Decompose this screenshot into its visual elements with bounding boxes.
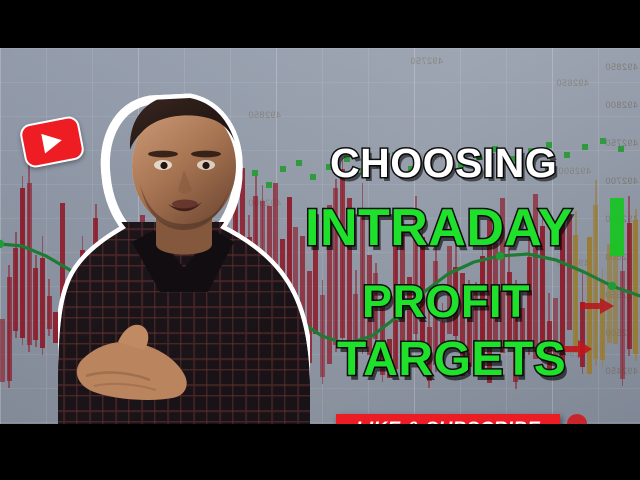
presenter-figure: [58, 92, 310, 424]
headline-line-3: PROFIT: [362, 276, 530, 328]
letterbox-top: [0, 0, 640, 48]
like-and-subscribe-banner[interactable]: LIKE & SUBSCRIBE: [336, 414, 560, 424]
bell-body: [567, 414, 587, 424]
thumbnail-content-plate: 4928504928004927504927004926504926004925…: [0, 48, 640, 424]
scatter-marker: [618, 146, 624, 152]
letterbox-bottom: [0, 424, 640, 480]
ma-marker-dot: [0, 240, 4, 248]
notification-bell-icon: [562, 408, 592, 424]
scatter-marker: [582, 144, 588, 150]
headline-line-2: INTRADAY: [305, 198, 573, 258]
scatter-marker: [600, 138, 606, 144]
headline-line-4: TARGETS: [337, 332, 566, 387]
scatter-marker: [564, 152, 570, 158]
presenter-cutout: [58, 92, 310, 424]
scatter-marker: [310, 174, 316, 180]
play-icon: [41, 130, 63, 153]
headline-line-1: CHOOSING: [330, 140, 557, 187]
thumbnail-canvas: 4928504928004927504927004926504926004925…: [0, 0, 640, 480]
ma-marker-dot: [608, 282, 616, 290]
red-arrow-icon-2: [580, 296, 614, 316]
